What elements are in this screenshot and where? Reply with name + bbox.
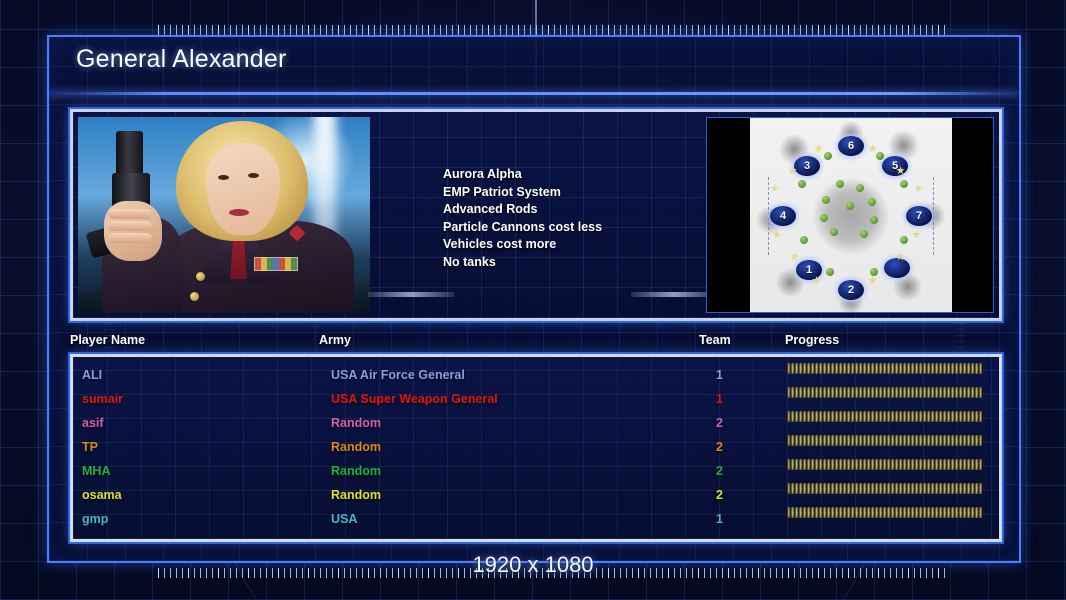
- map-start-position[interactable]: 2: [838, 280, 864, 300]
- player-name: gmp: [82, 507, 108, 531]
- map-supply-icon: [868, 198, 876, 206]
- player-progress-bar: [787, 459, 983, 470]
- player-name: ALI: [82, 363, 102, 387]
- map-supply-icon: [800, 236, 808, 244]
- player-progress-bar: [787, 411, 983, 422]
- general-abilities-list: Aurora AlphaEMP Patriot SystemAdvanced R…: [443, 166, 602, 272]
- player-name: MHA: [82, 459, 110, 483]
- map-start-position[interactable]: 5: [882, 156, 908, 176]
- header-player-name: Player Name: [70, 333, 145, 347]
- player-team: 2: [716, 435, 723, 459]
- player-army: Random: [331, 435, 381, 459]
- medal-ribbons: [254, 257, 298, 271]
- map-supply-icon: [824, 152, 832, 160]
- player-progress-bar: [787, 435, 983, 446]
- player-name: sumair: [82, 387, 123, 411]
- map-supply-icon: [856, 184, 864, 192]
- map-supply-icon: [900, 236, 908, 244]
- player-army: USA: [331, 507, 357, 531]
- player-army: USA Air Force General: [331, 363, 465, 387]
- player-team: 1: [716, 387, 723, 411]
- map-supply-icon: [870, 268, 878, 276]
- map-terrain: 6354712: [750, 118, 952, 313]
- map-supply-icon: [846, 202, 854, 210]
- decorative-bar-right: [631, 292, 717, 297]
- uniform-button-2: [190, 292, 199, 301]
- player-progress-bar: [787, 363, 983, 374]
- eye-right: [248, 173, 259, 178]
- ability-line: Particle Cannons cost less: [443, 219, 602, 237]
- table-row[interactable]: MHARandom2: [73, 459, 999, 483]
- uniform-button-1: [196, 272, 205, 281]
- header-team: Team: [699, 333, 731, 347]
- map-supply-icon: [826, 268, 834, 276]
- player-team: 1: [716, 507, 723, 531]
- map-supply-icon: [870, 216, 878, 224]
- map-start-position[interactable]: 4: [770, 206, 796, 226]
- ability-line: Aurora Alpha: [443, 166, 602, 184]
- ability-line: EMP Patriot System: [443, 184, 602, 202]
- map-supply-icon: [830, 228, 838, 236]
- player-name: osama: [82, 483, 122, 507]
- map-supply-icon: [836, 180, 844, 188]
- player-army: Random: [331, 459, 381, 483]
- ability-line: Advanced Rods: [443, 201, 602, 219]
- player-list: ALIUSA Air Force General1sumairUSA Super…: [70, 354, 1002, 542]
- map-start-position[interactable]: 6: [838, 136, 864, 156]
- eye-left: [218, 175, 229, 180]
- main-panel: General Alexander: [47, 35, 1021, 563]
- map-start-position[interactable]: [884, 258, 910, 278]
- ruler-top: [158, 25, 948, 35]
- map-supply-icon: [820, 214, 828, 222]
- game-lobby-screen: General Alexander: [0, 0, 1066, 600]
- header-progress: Progress: [785, 333, 839, 347]
- header-army: Army: [319, 333, 351, 347]
- map-start-position[interactable]: 3: [794, 156, 820, 176]
- map-supply-icon: [900, 180, 908, 188]
- general-info-box: Aurora AlphaEMP Patriot SystemAdvanced R…: [70, 109, 1002, 321]
- map-preview[interactable]: 6354712: [706, 117, 994, 313]
- lips: [229, 209, 249, 216]
- player-progress-bar: [787, 387, 983, 398]
- title-divider: [49, 92, 1019, 95]
- map-start-position[interactable]: 1: [796, 260, 822, 280]
- player-army: USA Super Weapon General: [331, 387, 498, 411]
- finger-1: [108, 209, 152, 219]
- map-start-position[interactable]: 7: [906, 206, 932, 226]
- finger-3: [108, 233, 152, 243]
- player-team: 1: [716, 363, 723, 387]
- player-team: 2: [716, 411, 723, 435]
- player-army: Random: [331, 483, 381, 507]
- player-progress-bar: [787, 507, 983, 518]
- ability-line: No tanks: [443, 254, 602, 272]
- table-row[interactable]: osamaRandom2: [73, 483, 999, 507]
- player-army: Random: [331, 411, 381, 435]
- page-title: General Alexander: [76, 45, 286, 74]
- table-row[interactable]: sumairUSA Super Weapon General1: [73, 387, 999, 411]
- table-row[interactable]: asifRandom2: [73, 411, 999, 435]
- finger-2: [108, 221, 152, 231]
- face: [206, 143, 280, 235]
- player-team: 2: [716, 459, 723, 483]
- general-portrait: [78, 117, 370, 313]
- player-team: 2: [716, 483, 723, 507]
- map-supply-icon: [822, 196, 830, 204]
- player-name: asif: [82, 411, 104, 435]
- resolution-label: 1920 x 1080: [0, 552, 1066, 578]
- map-supply-icon: [876, 152, 884, 160]
- table-row[interactable]: ALIUSA Air Force General1: [73, 363, 999, 387]
- ability-line: Vehicles cost more: [443, 236, 602, 254]
- map-supply-icon: [860, 230, 868, 238]
- table-row[interactable]: TPRandom2: [73, 435, 999, 459]
- table-row[interactable]: gmpUSA1: [73, 507, 999, 531]
- map-supply-icon: [798, 180, 806, 188]
- player-name: TP: [82, 435, 98, 459]
- title-bar: General Alexander: [49, 37, 1019, 93]
- decorative-bar-left: [368, 292, 454, 297]
- player-progress-bar: [787, 483, 983, 494]
